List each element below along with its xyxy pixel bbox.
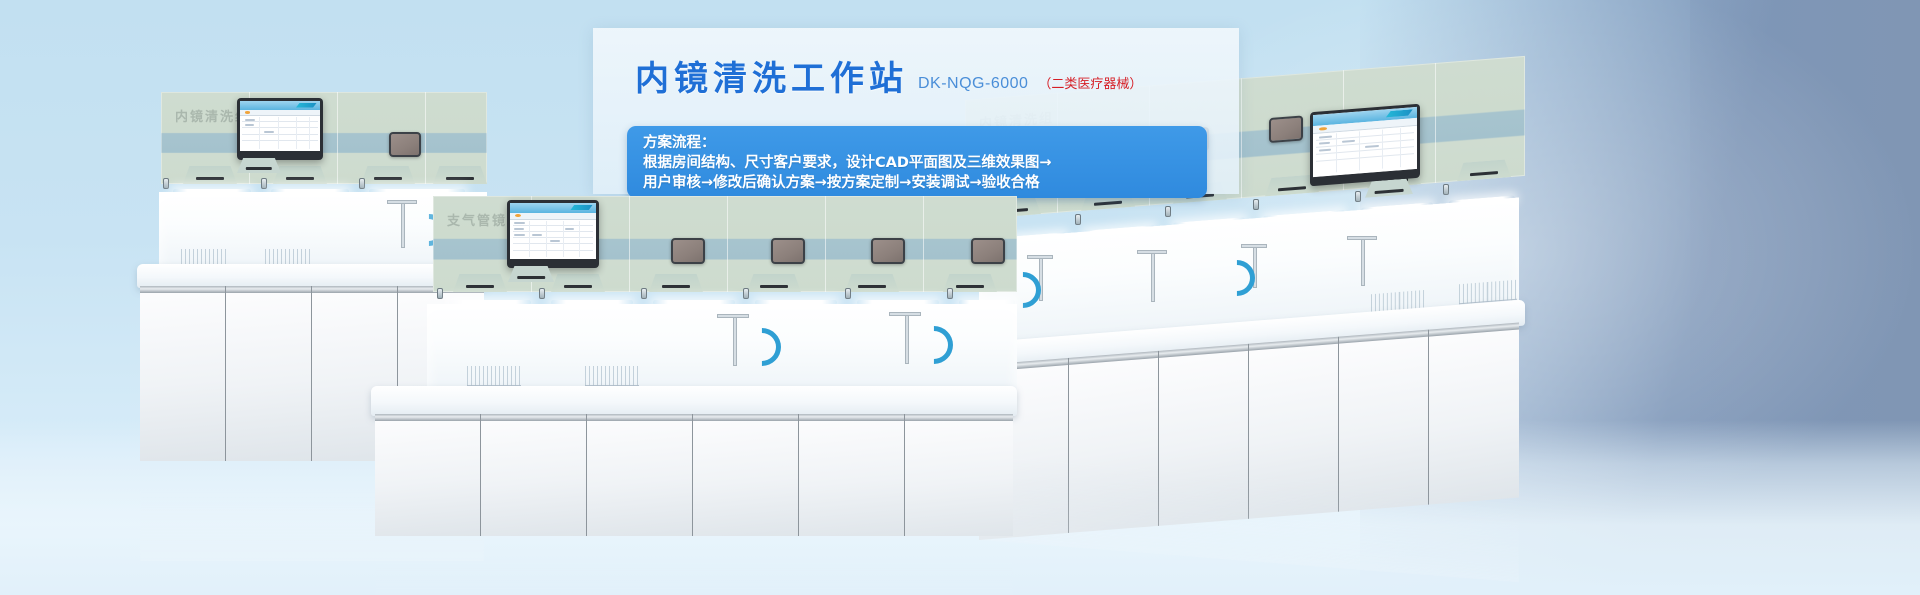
cabinet-door[interactable] [905,414,1013,536]
backsplash-notch [649,274,703,292]
proximity-sensor [1355,191,1361,202]
page-title: 内镜清洗工作站 [635,62,908,96]
proximity-sensor [845,288,851,299]
cabinet-door[interactable] [375,414,481,536]
backsplash-notch [845,274,899,292]
backsplash-notch [183,166,237,184]
proximity-sensor [359,178,365,189]
cabinet-door[interactable] [140,286,226,461]
proximity-sensor [641,288,647,299]
proximity-sensor [437,288,443,299]
cabinet-door[interactable] [226,286,312,461]
monitor-stand [237,158,281,173]
control-panel[interactable] [671,238,705,264]
monitor-screen [240,101,320,151]
proximity-sensor [947,288,953,299]
monitor-stand [508,266,554,282]
certification-badge: （二类医疗器械） [1038,73,1142,96]
cabinet-door[interactable] [587,414,693,536]
backsplash-notch [433,166,487,184]
control-panel[interactable] [1269,115,1303,143]
monitor-screen [1313,107,1417,177]
drying-rack [585,366,639,386]
flow-line-2: 用户审核→修改后确认方案→按方案定制→安装调试→验收合格 [643,173,1191,193]
cabinet-door[interactable] [799,414,905,536]
cabinet-door[interactable] [481,414,587,536]
backsplash-seam [425,92,426,184]
backsplash-seam [923,196,924,292]
screen-toolbar [510,213,596,220]
control-panel[interactable] [389,132,421,157]
proximity-sensor [743,288,749,299]
center-unit-floor-reflection [375,536,1013,595]
proximity-sensor [261,178,267,189]
backsplash-notch [551,274,605,292]
faucet-assembly[interactable] [1345,236,1385,298]
flow-line-1: 根据房间结构、尺寸客户要求，设计CAD平面图及三维效果图→ [643,153,1191,173]
backsplash-seam [1241,78,1242,198]
backsplash-seam [629,196,630,292]
control-panel[interactable] [871,238,905,264]
control-panel[interactable] [771,238,805,264]
screen-data-grid [240,116,320,151]
backsplash-notch [747,274,801,292]
monitor-center-unit[interactable] [507,200,599,268]
backsplash-seam [825,196,826,292]
monitor-screen [510,203,596,259]
proximity-sensor [1165,206,1171,217]
proximity-sensor [163,178,169,189]
screen-data-grid [1313,126,1417,178]
product-model: DK-NQG-6000 [918,75,1028,96]
process-flow-box: 方案流程： 根据房间结构、尺寸客户要求，设计CAD平面图及三维效果图→ 用户审核… [627,126,1207,198]
monitor-left-unit[interactable] [237,98,323,160]
proximity-sensor [1253,199,1259,210]
proximity-sensor [1075,214,1081,225]
backsplash-notch [273,166,327,184]
backsplash-notch [361,166,415,184]
proximity-sensor [1443,184,1449,195]
workstation-unit-center: 支气管镜清洗组 [371,196,1017,526]
left-unit-backsplash-wrap: 内镜清洗组 [161,92,487,184]
flow-heading: 方案流程： [643,133,1191,153]
backsplash-notch [453,274,507,292]
faucet-assembly[interactable] [1135,250,1175,312]
title-row: 内镜清洗工作站 DK-NQG-6000 （二类医疗器械） [635,62,1142,96]
drying-rack [467,366,521,386]
screen-data-grid [510,220,596,259]
cabinet-door[interactable] [693,414,799,536]
proximity-sensor [539,288,545,299]
screen-titlebar [240,101,320,110]
control-panel[interactable] [971,238,1005,264]
center-unit-cabinet-row [375,414,1013,536]
backsplash-seam [1435,63,1436,183]
center-unit-countertop [371,386,1017,416]
backsplash-seam [727,196,728,292]
monitor-right-unit[interactable] [1310,104,1420,187]
backsplash-seam [337,92,338,184]
screen-titlebar [510,203,596,213]
